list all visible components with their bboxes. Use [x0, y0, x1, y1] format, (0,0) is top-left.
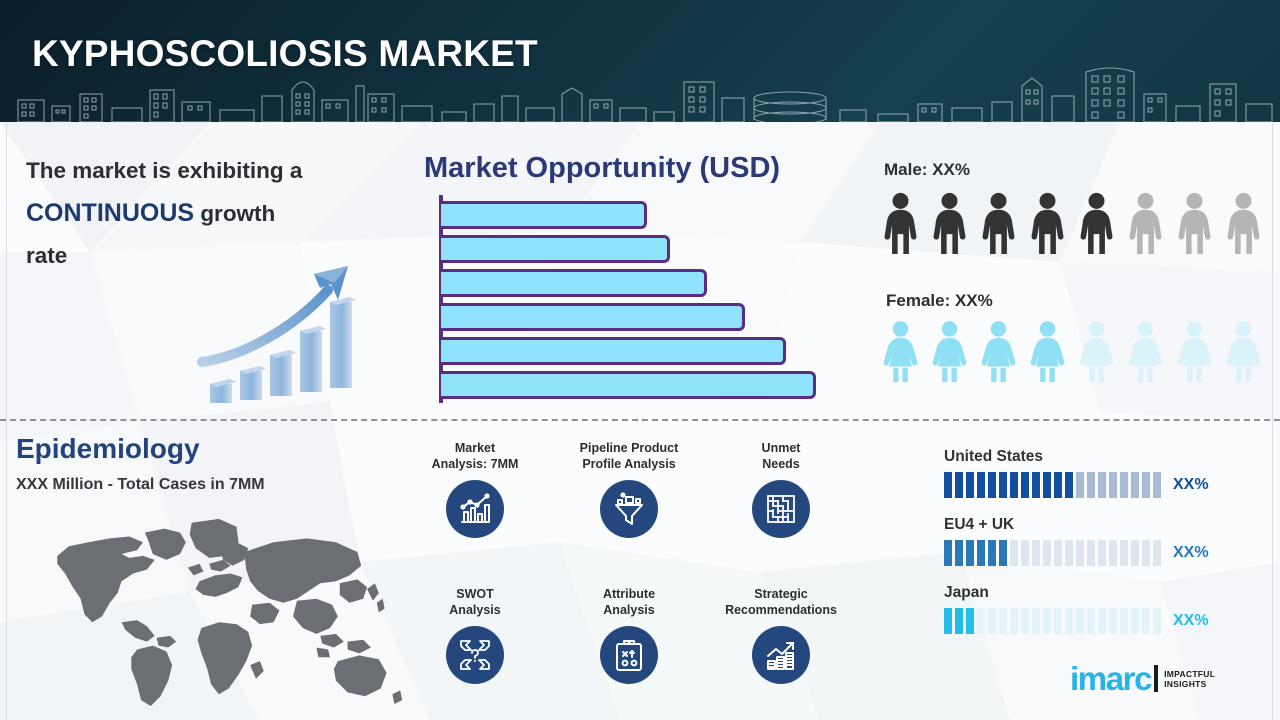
icon-cell-unmet-needs[interactable]: Unmet Needs — [702, 441, 860, 538]
bar-segment — [955, 540, 963, 566]
bar-segment — [999, 472, 1007, 498]
male-figure-icon — [1023, 192, 1072, 254]
right-border-rule — [1272, 122, 1273, 720]
bar-segment — [977, 540, 985, 566]
icon-caption: Attribute Analysis — [550, 587, 708, 618]
segmented-bar — [944, 540, 1161, 566]
icon-caption-line2: Recommendations — [725, 603, 837, 617]
bar-segment — [1098, 608, 1106, 634]
male-figure-icon — [876, 192, 925, 254]
bar-segment — [988, 540, 996, 566]
bar-segment — [1032, 472, 1040, 498]
bar-segment — [1087, 540, 1095, 566]
page-header: KYPHOSCOLIOSIS MARKET — [0, 0, 1280, 122]
icon-caption-line1: SWOT — [456, 587, 494, 601]
icon-caption-line2: Needs — [762, 457, 800, 471]
male-figure-icon — [1219, 192, 1268, 254]
bar-segment — [1120, 540, 1128, 566]
segmented-bar — [944, 608, 1161, 634]
market-opportunity-title: Market Opportunity (USD) — [424, 152, 780, 185]
logo-tagline-line2: INSIGHTS — [1164, 679, 1215, 689]
bar-segment — [1032, 540, 1040, 566]
country-bar-row: XX% — [944, 608, 1244, 634]
bar-segment — [999, 608, 1007, 634]
chart-bar — [441, 235, 670, 263]
icon-caption-line2: Analysis — [603, 603, 654, 617]
country-percentage: XX% — [1173, 544, 1209, 562]
bar-segment — [1109, 540, 1117, 566]
male-figure-icon — [1170, 192, 1219, 254]
female-figure-icon — [1023, 320, 1072, 382]
bar-segment — [1076, 540, 1084, 566]
imarc-logo[interactable]: imarc IMPACTFUL INSIGHTS — [1070, 662, 1215, 695]
logo-wordmark: imarc — [1070, 662, 1151, 695]
growth-chart-arrow-icon — [752, 626, 810, 684]
bar-segment — [1010, 608, 1018, 634]
country-block-eu4-uk: EU4 + UKXX% — [944, 516, 1244, 566]
chart-bar — [441, 201, 647, 229]
icon-caption-line1: Attribute — [603, 587, 655, 601]
female-figure-icon — [925, 320, 974, 382]
bar-segment — [1054, 472, 1062, 498]
bar-segment — [1087, 608, 1095, 634]
bar-segment — [1076, 472, 1084, 498]
bar-segment — [1109, 608, 1117, 634]
icon-caption-line1: Market — [455, 441, 495, 455]
bar-segment — [988, 472, 996, 498]
bar-segment — [1043, 608, 1051, 634]
male-pictogram-row — [876, 192, 1268, 254]
bar-segment — [944, 608, 952, 634]
logo-divider-bar — [1154, 665, 1158, 692]
bar-segment — [944, 540, 952, 566]
ascending-bar-chart-arrow-icon — [196, 258, 386, 403]
female-label: Female: XX% — [886, 291, 993, 311]
bar-segment — [1043, 472, 1051, 498]
country-name: EU4 + UK — [944, 516, 1244, 534]
bar-segment — [966, 540, 974, 566]
bar-segment — [944, 472, 952, 498]
bar-chart-line-icon — [446, 480, 504, 538]
female-figure-icon — [974, 320, 1023, 382]
bar-segment — [1098, 472, 1106, 498]
country-name: United States — [944, 448, 1244, 466]
four-arrows-question-icon — [446, 626, 504, 684]
bar-segment — [1153, 540, 1161, 566]
bar-segment — [1010, 472, 1018, 498]
icon-cell-market-analysis[interactable]: Market Analysis: 7MM — [396, 441, 554, 538]
bar-segment — [1131, 540, 1139, 566]
bar-segment — [999, 540, 1007, 566]
bar-segment — [1021, 608, 1029, 634]
female-pictogram-row — [876, 320, 1268, 382]
bar-segment — [1087, 472, 1095, 498]
market-opportunity-chart — [424, 193, 834, 409]
icon-caption: SWOT Analysis — [396, 587, 554, 618]
bar-segment — [1043, 540, 1051, 566]
bar-segment — [955, 608, 963, 634]
bar-segment — [1131, 608, 1139, 634]
section-divider — [0, 419, 1280, 421]
male-figure-icon — [1121, 192, 1170, 254]
icon-cell-strategic-recommendations[interactable]: Strategic Recommendations — [702, 587, 860, 684]
clipboard-strategy-icon — [600, 626, 658, 684]
bar-segment — [1032, 608, 1040, 634]
country-percentage: XX% — [1173, 476, 1209, 494]
chart-bar — [441, 303, 745, 331]
bar-segment — [1065, 472, 1073, 498]
icon-caption: Market Analysis: 7MM — [396, 441, 554, 472]
world-map-icon — [28, 508, 408, 713]
bar-segment — [1120, 472, 1128, 498]
icon-caption-line1: Pipeline Product — [580, 441, 679, 455]
chart-bar — [441, 371, 816, 399]
icon-caption: Pipeline Product Profile Analysis — [550, 441, 708, 472]
bar-segment — [1120, 608, 1128, 634]
bar-segment — [966, 608, 974, 634]
bar-segment — [988, 608, 996, 634]
growth-line-3: rate — [26, 243, 67, 268]
icon-caption: Unmet Needs — [702, 441, 860, 472]
chart-bar — [441, 269, 707, 297]
bar-segment — [1065, 608, 1073, 634]
bar-segment — [1131, 472, 1139, 498]
bar-segment — [977, 472, 985, 498]
growth-highlight: CONTINUOUS — [26, 199, 194, 227]
country-block-japan: JapanXX% — [944, 584, 1244, 634]
country-bar-row: XX% — [944, 472, 1244, 498]
female-figure-icon — [876, 320, 925, 382]
funnel-icon — [600, 480, 658, 538]
epidemiology-subtitle: XXX Million - Total Cases in 7MM — [16, 476, 265, 494]
icon-cell-pipeline-product[interactable]: Pipeline Product Profile Analysis — [550, 441, 708, 538]
icon-caption-line1: Strategic — [754, 587, 808, 601]
growth-line-2-rest: growth — [194, 201, 275, 226]
country-bar-row: XX% — [944, 540, 1244, 566]
icon-caption: Strategic Recommendations — [702, 587, 860, 618]
bar-segment — [1065, 540, 1073, 566]
left-border-rule — [6, 122, 7, 720]
logo-tagline-line1: IMPACTFUL — [1164, 669, 1215, 679]
growth-line-1: The market is exhibiting a — [26, 158, 302, 183]
bar-segment — [1054, 540, 1062, 566]
bar-segment — [1142, 608, 1150, 634]
bar-segment — [1142, 472, 1150, 498]
female-figure-icon — [1219, 320, 1268, 382]
country-block-united-states: United StatesXX% — [944, 448, 1244, 498]
segmented-bar — [944, 472, 1161, 498]
male-label: Male: XX% — [884, 160, 970, 180]
page-title: KYPHOSCOLIOSIS MARKET — [32, 33, 538, 75]
bar-segment — [1076, 608, 1084, 634]
country-name: Japan — [944, 584, 1244, 602]
female-figure-icon — [1121, 320, 1170, 382]
chart-bar — [441, 337, 786, 365]
male-figure-icon — [974, 192, 1023, 254]
bar-segment — [1021, 472, 1029, 498]
female-figure-icon — [1072, 320, 1121, 382]
icon-caption-line1: Unmet — [762, 441, 801, 455]
bar-segment — [1054, 608, 1062, 634]
bar-segment — [966, 472, 974, 498]
bar-segment — [1153, 472, 1161, 498]
bar-segment — [977, 608, 985, 634]
infographic-page: KYPHOSCOLIOSIS MARKET The market is exhi… — [0, 0, 1280, 720]
icon-caption-line2: Analysis — [449, 603, 500, 617]
bar-segment — [1098, 540, 1106, 566]
logo-tagline: IMPACTFUL INSIGHTS — [1164, 669, 1215, 689]
male-figure-icon — [925, 192, 974, 254]
bar-segment — [1142, 540, 1150, 566]
bar-segment — [1010, 540, 1018, 566]
icon-caption-line2: Profile Analysis — [582, 457, 675, 471]
epidemiology-title: Epidemiology — [16, 433, 200, 465]
male-figure-icon — [1072, 192, 1121, 254]
female-figure-icon — [1170, 320, 1219, 382]
icon-cell-attribute-analysis[interactable]: Attribute Analysis — [550, 587, 708, 684]
bar-segment — [1153, 608, 1161, 634]
bar-segment — [1109, 472, 1117, 498]
icon-cell-swot-analysis[interactable]: SWOT Analysis — [396, 587, 554, 684]
bar-segment — [955, 472, 963, 498]
country-percentage: XX% — [1173, 612, 1209, 630]
bar-segment — [1021, 540, 1029, 566]
maze-icon — [752, 480, 810, 538]
icon-caption-line2: Analysis: 7MM — [432, 457, 519, 471]
